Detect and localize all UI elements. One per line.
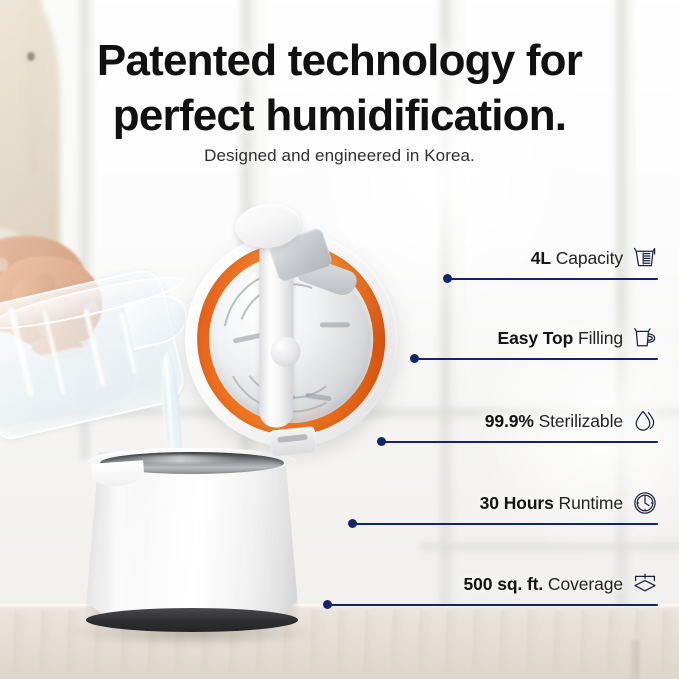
feature-rule xyxy=(349,523,658,525)
counter-leg xyxy=(630,640,639,679)
feature-rule xyxy=(324,604,658,606)
feature-value: 500 sq. ft. xyxy=(464,574,544,594)
feature-row: Easy Top Filling xyxy=(498,325,658,351)
feature-label: Sterilizable xyxy=(534,411,623,431)
feature-text: Easy Top Filling xyxy=(498,328,623,349)
feature-connector-dot xyxy=(323,600,332,609)
feature-connector-dot xyxy=(377,437,386,446)
feature-rule xyxy=(378,441,658,443)
feature-connector-dot xyxy=(443,274,452,283)
pitcher-icon xyxy=(632,325,658,351)
clock-icon xyxy=(632,490,658,516)
feature-item[interactable]: 30 Hours Runtime xyxy=(349,481,658,525)
feature-row: 4L Capacity xyxy=(531,245,658,271)
feature-text: 500 sq. ft. Coverage xyxy=(464,574,623,595)
measuring-cup-icon xyxy=(632,245,658,271)
feature-value: 99.9% xyxy=(485,411,534,431)
feature-connector-dot xyxy=(348,519,357,528)
feature-connector-dot xyxy=(410,354,419,363)
feature-label: Coverage xyxy=(543,574,623,594)
coverage-area-icon xyxy=(632,571,658,597)
feature-label: Filling xyxy=(573,328,623,348)
feature-rule xyxy=(444,278,658,280)
feature-label: Capacity xyxy=(551,248,623,268)
feature-text: 99.9% Sterilizable xyxy=(485,411,623,432)
headline-line-2: perfect humidification. xyxy=(0,88,679,143)
feature-label: Runtime xyxy=(554,493,623,513)
feature-row: 30 Hours Runtime xyxy=(480,490,658,516)
humidifier-base xyxy=(86,608,298,632)
feature-rule xyxy=(411,358,658,360)
feature-text: 4L Capacity xyxy=(531,248,623,269)
water-drop-icon xyxy=(632,408,658,434)
feature-text: 30 Hours Runtime xyxy=(480,493,623,514)
page-subheadline: Designed and engineered in Korea. xyxy=(0,146,679,166)
feature-row: 99.9% Sterilizable xyxy=(485,408,658,434)
page-headline: Patented technology for perfect humidifi… xyxy=(0,33,679,143)
feature-value: 4L xyxy=(531,248,551,268)
feature-value: Easy Top xyxy=(498,328,574,348)
humidifier-body-highlight xyxy=(112,470,152,616)
feature-row: 500 sq. ft. Coverage xyxy=(464,571,658,597)
feature-item[interactable]: 4L Capacity xyxy=(444,236,658,280)
product-feature-graphic: Patented technology for perfect humidifi… xyxy=(0,0,679,679)
feature-item[interactable]: Easy Top Filling xyxy=(411,316,658,360)
feature-item[interactable]: 500 sq. ft. Coverage xyxy=(324,562,658,606)
lid-vent-slot xyxy=(320,322,350,327)
feature-item[interactable]: 99.9% Sterilizable xyxy=(378,399,658,443)
headline-line-1: Patented technology for xyxy=(0,33,679,88)
humidifier-lid xyxy=(175,222,410,473)
feature-value: 30 Hours xyxy=(480,493,554,513)
